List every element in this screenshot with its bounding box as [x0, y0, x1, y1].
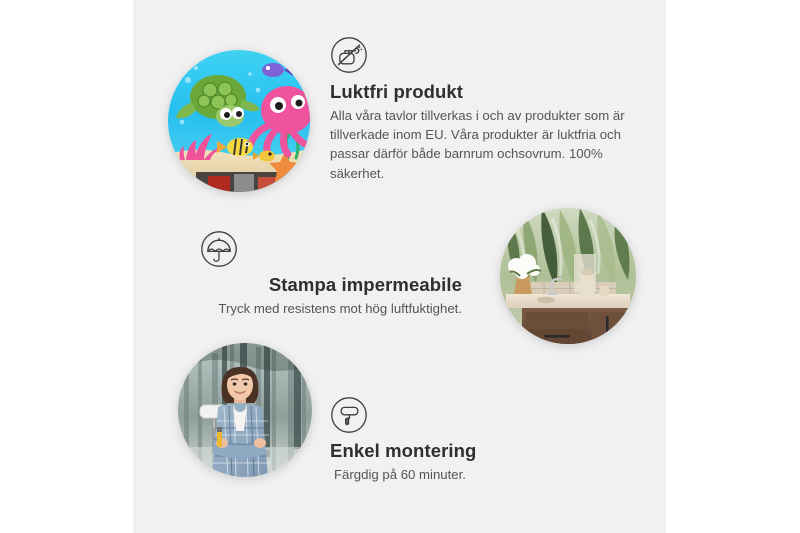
feature-title: Luktfri produkt — [330, 80, 630, 103]
no-spray-bottle-icon — [330, 36, 630, 74]
feature-odourless: Luktfri produkt Alla våra tavlor tillver… — [330, 36, 630, 183]
feature-title: Enkel montering — [330, 439, 590, 462]
underwater-cartoon-circle-image — [168, 50, 310, 192]
feature-body: Alla våra tavlor tillverkas i och av pro… — [330, 106, 630, 183]
feature-title: Stampa impermeabile — [200, 273, 462, 296]
umbrella-icon — [200, 230, 462, 268]
feature-body: Färgdig på 60 minuter. — [330, 465, 590, 484]
paint-roller-icon — [330, 396, 590, 434]
bathroom-vanity-circle-image — [500, 208, 636, 344]
feature-body: Tryck med resistens mot hög luftfuktighe… — [200, 299, 462, 318]
woman-with-roller-forest-circle-image — [178, 343, 312, 477]
feature-assembly: Enkel montering Färgdig på 60 minuter. — [330, 396, 590, 484]
infographic-canvas: Luktfri produkt Alla våra tavlor tillver… — [0, 0, 800, 533]
feature-waterproof: Stampa impermeabile Tryck med resistens … — [200, 230, 462, 318]
